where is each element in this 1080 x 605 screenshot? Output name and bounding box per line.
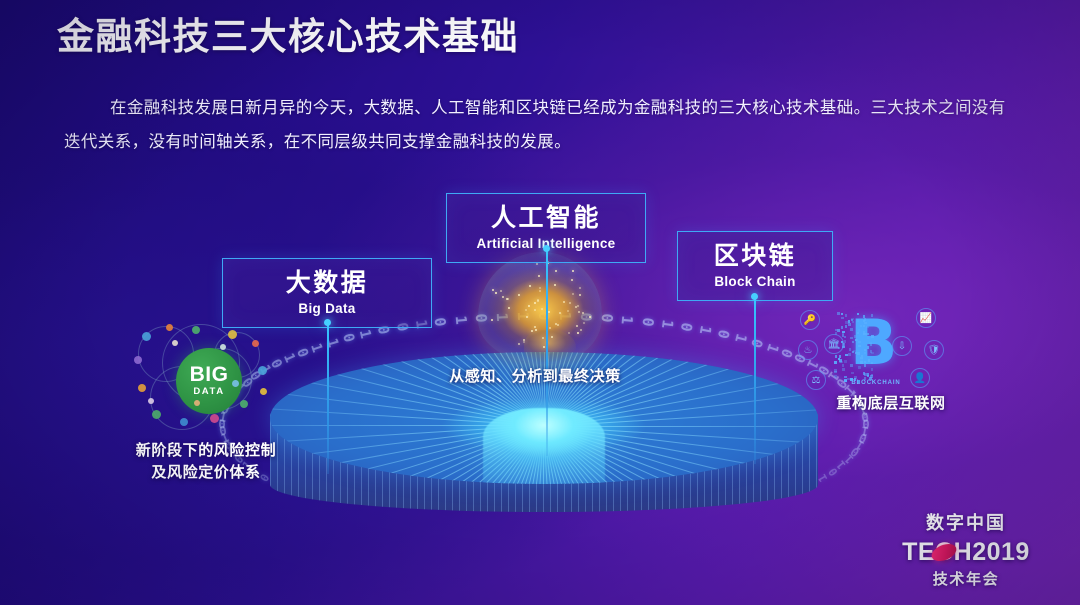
blockchain-pixel bbox=[850, 337, 853, 340]
chain-icon-person: 👤 bbox=[910, 368, 930, 388]
brain-spark bbox=[539, 287, 541, 289]
binary-digit: 1 bbox=[841, 451, 856, 466]
blockchain-pixel bbox=[858, 366, 861, 369]
brain-spark bbox=[500, 290, 502, 292]
branding-event-logo-text: TECH2019 bbox=[902, 538, 1030, 566]
binary-digit: 1 bbox=[860, 423, 870, 438]
body-paragraph: 在金融科技发展日新月异的今天，大数据、人工智能和区块链已经成为金融科技的三大核心… bbox=[64, 92, 1022, 160]
blockchain-pixel bbox=[844, 376, 847, 379]
chain-icon-key: 🔑 bbox=[800, 310, 820, 330]
blockchain-pixel bbox=[863, 325, 866, 328]
brain-spark bbox=[536, 263, 538, 265]
blockchain-pixel bbox=[871, 314, 874, 317]
blockchain-pixel bbox=[848, 353, 851, 356]
binary-digit: 1 bbox=[451, 314, 470, 325]
binary-digit: 0 bbox=[431, 316, 450, 327]
blockchain-pixel bbox=[844, 379, 847, 382]
blockchain-pixel bbox=[839, 359, 842, 362]
blockchain-pixel bbox=[841, 317, 844, 320]
pillar-card-block-chain[interactable]: 区块链 Block Chain bbox=[677, 231, 833, 301]
bd-node-0 bbox=[142, 332, 151, 341]
bd-node-4 bbox=[252, 340, 259, 347]
brain-spark bbox=[492, 289, 494, 291]
bd-node-15 bbox=[148, 398, 154, 404]
bd-node-6 bbox=[258, 366, 267, 375]
bd-node-9 bbox=[180, 418, 188, 426]
blockchain-pixel bbox=[864, 361, 867, 364]
binary-digit: 1 bbox=[731, 332, 749, 344]
blockchain-pixel bbox=[857, 380, 860, 383]
blockchain-pixel bbox=[845, 354, 848, 357]
chain-icon-shield: 🛡 bbox=[924, 340, 944, 360]
branding-event-subtitle: 技术年会 bbox=[878, 568, 1054, 589]
brain-spark bbox=[502, 296, 504, 298]
bd-node-5 bbox=[134, 356, 142, 364]
bd-node-16 bbox=[232, 380, 239, 387]
pillar-card-big-data-subtitle: Big Data bbox=[241, 301, 413, 316]
blockchain-pixel bbox=[836, 342, 839, 345]
brain-spark bbox=[542, 337, 544, 339]
big-data-badge-primary: BIG bbox=[190, 365, 229, 385]
brain-spark bbox=[563, 301, 565, 303]
blockchain-pixel bbox=[871, 362, 874, 365]
blockchain-pixel bbox=[857, 352, 860, 355]
blockchain-pixel bbox=[857, 332, 860, 335]
binary-digit: 0 bbox=[677, 321, 695, 332]
bd-node-3 bbox=[228, 330, 237, 339]
bd-node-14 bbox=[220, 344, 226, 350]
bd-node-12 bbox=[260, 388, 267, 395]
blockchain-pixel bbox=[834, 369, 837, 372]
caption-big-data: 新阶段下的风险控制 及风险定价体系 bbox=[96, 440, 316, 484]
blockchain-pixel bbox=[844, 360, 847, 363]
binary-digit: 1 bbox=[853, 437, 866, 453]
blockchain-pixel bbox=[847, 378, 850, 381]
binary-digit: 1 bbox=[618, 314, 637, 325]
blockchain-pixel bbox=[855, 339, 858, 342]
brain-spark bbox=[539, 290, 541, 292]
binary-digit: 0 bbox=[339, 332, 357, 344]
blockchain-pixel bbox=[871, 352, 874, 355]
blockchain-pixel bbox=[850, 328, 853, 331]
branding-event-logo: TECH2019 bbox=[902, 538, 1030, 567]
blockchain-wordmark: BLOCKCHAIN bbox=[836, 380, 916, 386]
binary-digit: 0 bbox=[747, 336, 765, 349]
blockchain-pixel bbox=[863, 315, 866, 318]
binary-digit: 1 bbox=[356, 328, 375, 340]
blockchain-pixel bbox=[852, 351, 855, 354]
bd-node-7 bbox=[138, 384, 146, 392]
blockchain-pixel bbox=[845, 325, 848, 328]
blockchain-pixel bbox=[866, 326, 869, 329]
blockchain-pixel bbox=[857, 313, 860, 316]
slide-canvas: 0101010010101101001010110100101010101001… bbox=[0, 0, 1080, 605]
connector-ai bbox=[546, 248, 548, 456]
blockchain-pixel bbox=[842, 334, 845, 337]
pillar-card-big-data[interactable]: 大数据 Big Data bbox=[222, 258, 432, 328]
blockchain-pixel bbox=[864, 377, 867, 380]
binary-digit: 1 bbox=[323, 336, 341, 349]
chain-icon-leaf: ♨ bbox=[798, 340, 818, 360]
big-data-icon-cluster: BIG DATA bbox=[132, 322, 284, 438]
caption-block-chain: 重构底层互联网 bbox=[796, 393, 986, 415]
blockchain-pixel bbox=[845, 321, 848, 324]
binary-digit: 0 bbox=[857, 430, 869, 446]
blockchain-pixel bbox=[871, 335, 874, 338]
blockchain-pixel bbox=[851, 372, 854, 375]
blockchain-pixel bbox=[835, 332, 838, 335]
blockchain-pixel bbox=[837, 329, 840, 332]
blockchain-pixel bbox=[861, 355, 864, 358]
blockchain-pixel bbox=[845, 314, 848, 317]
bd-node-10 bbox=[210, 414, 219, 423]
chain-icon-bank: 🏛 bbox=[824, 334, 844, 354]
blockchain-pixel bbox=[848, 323, 851, 326]
block-chain-icon-cluster: B BLOCKCHAIN 🔑 ♨ ⚖ 🏛 📈 🛡 👤 ⇩ bbox=[798, 306, 950, 406]
blockchain-pixel bbox=[866, 333, 869, 336]
chain-icon-chart: 📈 bbox=[916, 308, 936, 328]
blockchain-pixel bbox=[841, 326, 844, 329]
blockchain-pixel bbox=[842, 364, 845, 367]
blockchain-pixel bbox=[864, 364, 867, 367]
brain-icon bbox=[478, 252, 602, 364]
blockchain-pixel bbox=[850, 364, 853, 367]
brain-spark bbox=[576, 325, 578, 327]
blockchain-pixel bbox=[864, 322, 867, 325]
blockchain-pixel bbox=[852, 321, 855, 324]
blockchain-pixel bbox=[834, 375, 837, 378]
binary-digit: 1 bbox=[834, 458, 849, 472]
binary-digit: 0 bbox=[638, 316, 657, 327]
blockchain-pixel bbox=[867, 336, 870, 339]
blockchain-pixel bbox=[850, 378, 853, 381]
brain-spark bbox=[529, 285, 531, 287]
brain-stem bbox=[524, 330, 576, 362]
disc-core-beam bbox=[483, 408, 605, 484]
bd-node-1 bbox=[166, 324, 173, 331]
brain-spark bbox=[555, 270, 557, 272]
caption-artificial-intelligence: 从感知、分析到最终决策 bbox=[420, 366, 650, 388]
pillar-card-chain-subtitle: Block Chain bbox=[696, 274, 814, 289]
bd-node-8 bbox=[152, 410, 161, 419]
binary-digit: 0 bbox=[825, 465, 840, 479]
chain-icon-scales: ⚖ bbox=[806, 370, 826, 390]
blockchain-pixel bbox=[842, 346, 845, 349]
blockchain-pixel bbox=[841, 313, 844, 316]
blockchain-pixel bbox=[858, 345, 861, 348]
blockchain-pixel bbox=[864, 373, 867, 376]
brain-spark bbox=[549, 327, 551, 329]
bd-node-17 bbox=[194, 400, 200, 406]
brain-spark bbox=[579, 287, 581, 289]
brain-spark bbox=[523, 339, 525, 341]
branding-organization: 数字中国 bbox=[878, 509, 1054, 535]
blockchain-pixel bbox=[864, 352, 867, 355]
blockchain-pixel bbox=[868, 359, 871, 362]
blockchain-pixel bbox=[857, 319, 860, 322]
blockchain-pixel bbox=[837, 312, 840, 315]
big-data-badge-secondary: DATA bbox=[193, 386, 224, 397]
bd-node-13 bbox=[172, 340, 178, 346]
blockchain-pixel bbox=[867, 346, 870, 349]
pillar-card-big-data-title: 大数据 bbox=[241, 268, 413, 299]
page-title: 金融科技三大核心技术基础 bbox=[57, 15, 519, 59]
brain-spark bbox=[523, 341, 525, 343]
blockchain-pixel bbox=[869, 377, 872, 380]
blockchain-pixel bbox=[838, 347, 841, 350]
blockchain-pixel bbox=[854, 335, 857, 338]
binary-digit: 0 bbox=[862, 417, 870, 432]
blockchain-pixel bbox=[854, 378, 857, 381]
blockchain-pixel bbox=[871, 374, 874, 377]
pillar-card-chain-title: 区块链 bbox=[696, 241, 814, 272]
blockchain-pixel bbox=[870, 343, 873, 346]
pillar-card-ai-title: 人工智能 bbox=[465, 203, 627, 234]
connector-block-chain bbox=[754, 296, 756, 464]
caption-big-data-line2: 及风险定价体系 bbox=[96, 462, 316, 484]
bd-node-2 bbox=[192, 326, 200, 334]
blockchain-pixel bbox=[842, 368, 845, 371]
caption-big-data-line1: 新阶段下的风险控制 bbox=[96, 440, 316, 462]
binary-digit: 0 bbox=[714, 328, 733, 340]
blockchain-pixel bbox=[834, 361, 837, 364]
chain-icon-download: ⇩ bbox=[892, 336, 912, 356]
connector-big-data bbox=[327, 322, 329, 474]
blockchain-pixel bbox=[871, 368, 874, 371]
bd-node-11 bbox=[240, 400, 248, 408]
binary-digit: 0 bbox=[848, 444, 862, 459]
blockchain-pixel bbox=[855, 352, 858, 355]
blockchain-pixel bbox=[852, 341, 855, 344]
brain-spark bbox=[575, 306, 577, 308]
blockchain-pixel bbox=[858, 341, 861, 344]
binary-digit: 1 bbox=[658, 319, 676, 330]
brain-spark bbox=[507, 298, 509, 300]
branding-block: 数字中国 TECH2019 技术年会 bbox=[878, 509, 1054, 589]
blockchain-pixel bbox=[864, 349, 867, 352]
binary-digit: 1 bbox=[696, 325, 714, 337]
blockchain-pixel bbox=[860, 359, 863, 362]
blockchain-pixel bbox=[835, 355, 838, 358]
blockchain-pixel bbox=[863, 333, 866, 336]
